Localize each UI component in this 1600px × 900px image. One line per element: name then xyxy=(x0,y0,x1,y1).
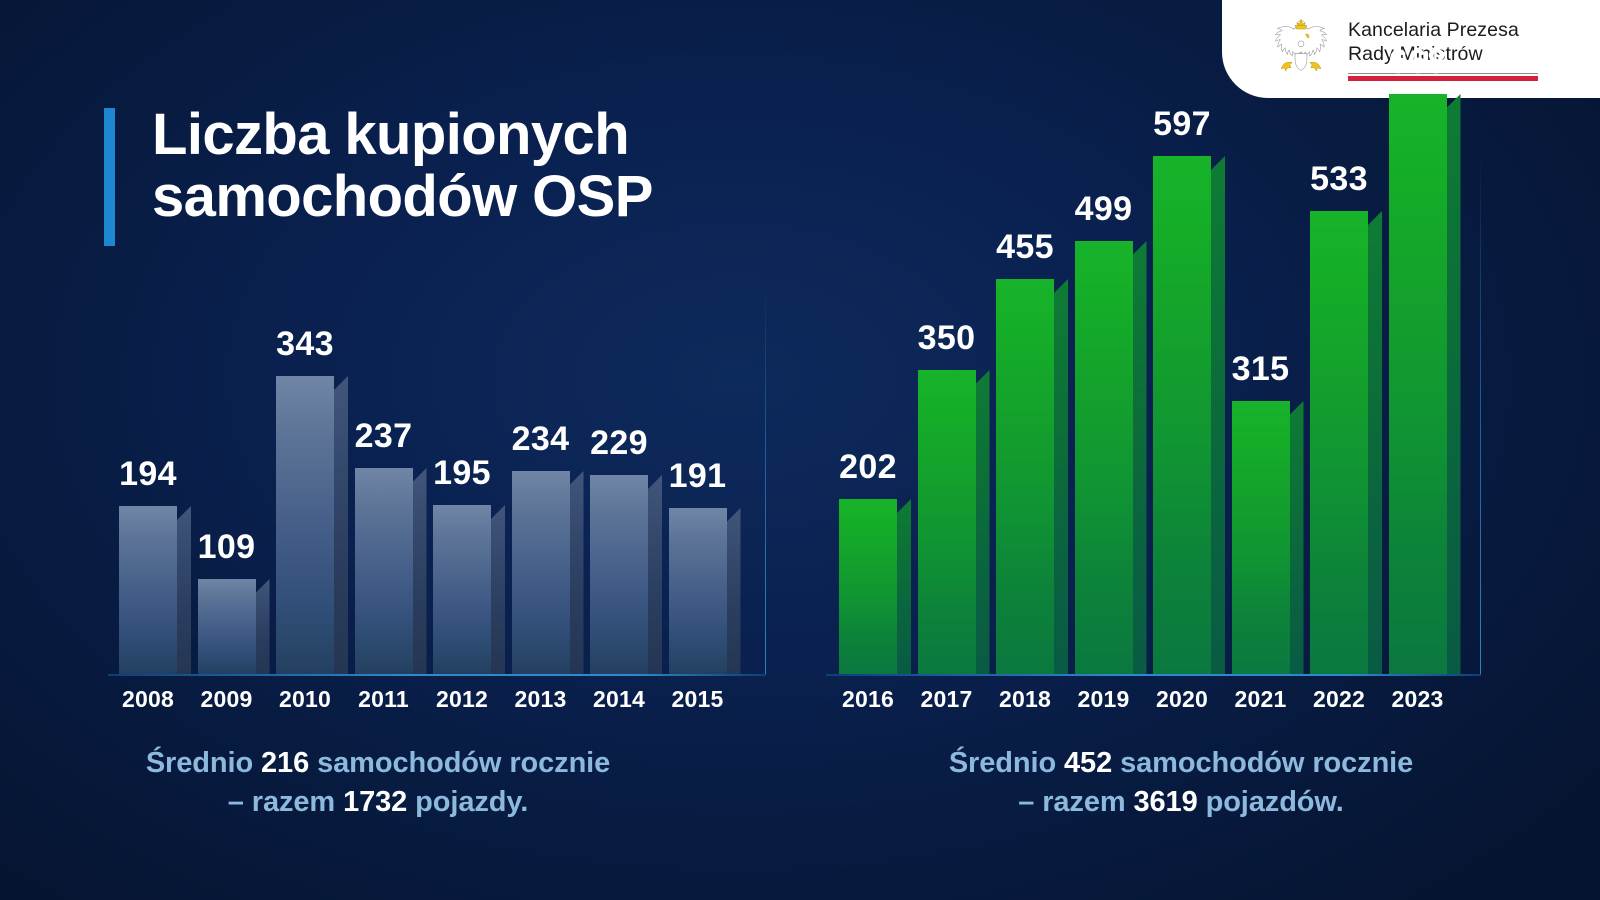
bar-side-face xyxy=(1290,401,1304,674)
bar-value-label: 533 xyxy=(1310,160,1368,199)
bar-2010: 343 xyxy=(276,376,334,674)
caption-line2-pre: – razem xyxy=(1018,786,1133,818)
bar-side-face xyxy=(1211,156,1225,674)
x-tick-2010: 2010 xyxy=(268,686,342,713)
bar-side-face xyxy=(334,376,348,674)
x-tick-2019: 2019 xyxy=(1067,686,1141,713)
bar-2021: 315 xyxy=(1232,401,1290,674)
bar-side-face xyxy=(1447,94,1461,674)
bar-front-face xyxy=(355,468,413,674)
bar-value-label: 499 xyxy=(1075,190,1133,229)
bar-2019: 499 xyxy=(1075,241,1133,674)
bar-side-face xyxy=(491,505,505,674)
bar-front-face xyxy=(198,579,256,674)
bar-value-label: 343 xyxy=(276,325,334,364)
bar-2011: 237 xyxy=(355,468,413,674)
bar-front-face xyxy=(590,475,648,674)
bar-front-face xyxy=(996,279,1054,674)
chart-right: 202350455499597315533668 201620172018201… xyxy=(800,0,1600,900)
x-tick-2009: 2009 xyxy=(190,686,264,713)
bar-front-face xyxy=(512,471,570,674)
x-tick-2011: 2011 xyxy=(347,686,421,713)
bar-value-label: 202 xyxy=(839,448,897,487)
bar-side-face xyxy=(570,471,584,674)
bar-side-face xyxy=(648,475,662,674)
bar-side-face xyxy=(256,579,270,674)
infographic-canvas: Kancelaria Prezesa Rady Ministrów Liczba… xyxy=(0,0,1600,900)
bar-value-label: 668 xyxy=(1389,43,1447,82)
bar-value-label: 597 xyxy=(1153,105,1211,144)
bar-value-label: 455 xyxy=(996,228,1054,267)
bar-front-face xyxy=(1310,211,1368,674)
bar-2012: 195 xyxy=(433,505,491,674)
bar-2017: 350 xyxy=(918,370,976,674)
bar-value-label: 191 xyxy=(669,457,727,496)
chart-right-plot: 202350455499597315533668 201620172018201… xyxy=(800,0,1600,690)
caption-line2-post: pojazdy. xyxy=(407,786,528,818)
bar-front-face xyxy=(1153,156,1211,674)
chart-right-bars: 202350455499597315533668 xyxy=(800,0,1600,676)
bar-side-face xyxy=(897,499,911,674)
bar-2018: 455 xyxy=(996,279,1054,674)
bar-2014: 229 xyxy=(590,475,648,674)
chart-left-bars: 194109343237195234229191 xyxy=(0,0,800,676)
x-tick-2022: 2022 xyxy=(1302,686,1376,713)
x-tick-2016: 2016 xyxy=(831,686,905,713)
caption-total-value: 1732 xyxy=(343,786,407,818)
caption-line2-post: pojazdów. xyxy=(1198,786,1344,818)
bar-front-face xyxy=(276,376,334,674)
bar-side-face xyxy=(1054,279,1068,674)
chart-left: 194109343237195234229191 200820092010201… xyxy=(0,0,800,900)
bar-side-face xyxy=(727,508,741,674)
bar-front-face xyxy=(669,508,727,674)
bar-2020: 597 xyxy=(1153,156,1211,674)
bar-2015: 191 xyxy=(669,508,727,674)
x-tick-2020: 2020 xyxy=(1145,686,1219,713)
bar-value-label: 229 xyxy=(590,424,648,463)
bar-value-label: 234 xyxy=(512,420,570,459)
caption-average-value: 452 xyxy=(1064,747,1112,779)
bar-2022: 533 xyxy=(1310,211,1368,674)
x-tick-2013: 2013 xyxy=(504,686,578,713)
chart-left-caption: Średnio 216 samochodów rocznie – razem 1… xyxy=(0,744,800,821)
caption-average-value: 216 xyxy=(261,747,309,779)
bar-value-label: 237 xyxy=(355,417,413,456)
bar-front-face xyxy=(119,506,177,674)
chart-left-plot: 194109343237195234229191 200820092010201… xyxy=(0,0,800,690)
x-tick-2012: 2012 xyxy=(425,686,499,713)
bar-front-face xyxy=(839,499,897,674)
bar-front-face xyxy=(433,505,491,674)
x-tick-2015: 2015 xyxy=(661,686,735,713)
bar-value-label: 109 xyxy=(198,528,256,567)
x-tick-2014: 2014 xyxy=(582,686,656,713)
bar-front-face xyxy=(1232,401,1290,674)
bar-value-label: 350 xyxy=(918,319,976,358)
bar-value-label: 195 xyxy=(433,454,491,493)
bar-value-label: 194 xyxy=(119,455,177,494)
bar-2013: 234 xyxy=(512,471,570,674)
bar-front-face xyxy=(918,370,976,674)
bar-front-face xyxy=(1075,241,1133,674)
chart-right-caption: Średnio 452 samochodów rocznie – razem 3… xyxy=(800,744,1600,821)
caption-pre: Średnio xyxy=(949,747,1064,779)
bar-front-face xyxy=(1389,94,1447,674)
bar-2009: 109 xyxy=(198,579,256,674)
bar-side-face xyxy=(1133,241,1147,674)
caption-total-value: 3619 xyxy=(1134,786,1198,818)
bar-side-face xyxy=(177,506,191,674)
x-tick-2021: 2021 xyxy=(1224,686,1298,713)
caption-mid: samochodów rocznie xyxy=(309,747,610,779)
caption-mid: samochodów rocznie xyxy=(1112,747,1413,779)
bar-side-face xyxy=(1368,211,1382,674)
bar-2016: 202 xyxy=(839,499,897,674)
bar-2023: 668 xyxy=(1389,94,1447,674)
x-tick-2017: 2017 xyxy=(910,686,984,713)
x-tick-2018: 2018 xyxy=(988,686,1062,713)
bar-side-face xyxy=(413,468,427,674)
bar-value-label: 315 xyxy=(1232,350,1290,389)
caption-line2-pre: – razem xyxy=(228,786,343,818)
caption-pre: Średnio xyxy=(146,747,261,779)
bar-2008: 194 xyxy=(119,506,177,674)
x-tick-2008: 2008 xyxy=(111,686,185,713)
bar-side-face xyxy=(976,370,990,674)
x-tick-2023: 2023 xyxy=(1381,686,1455,713)
